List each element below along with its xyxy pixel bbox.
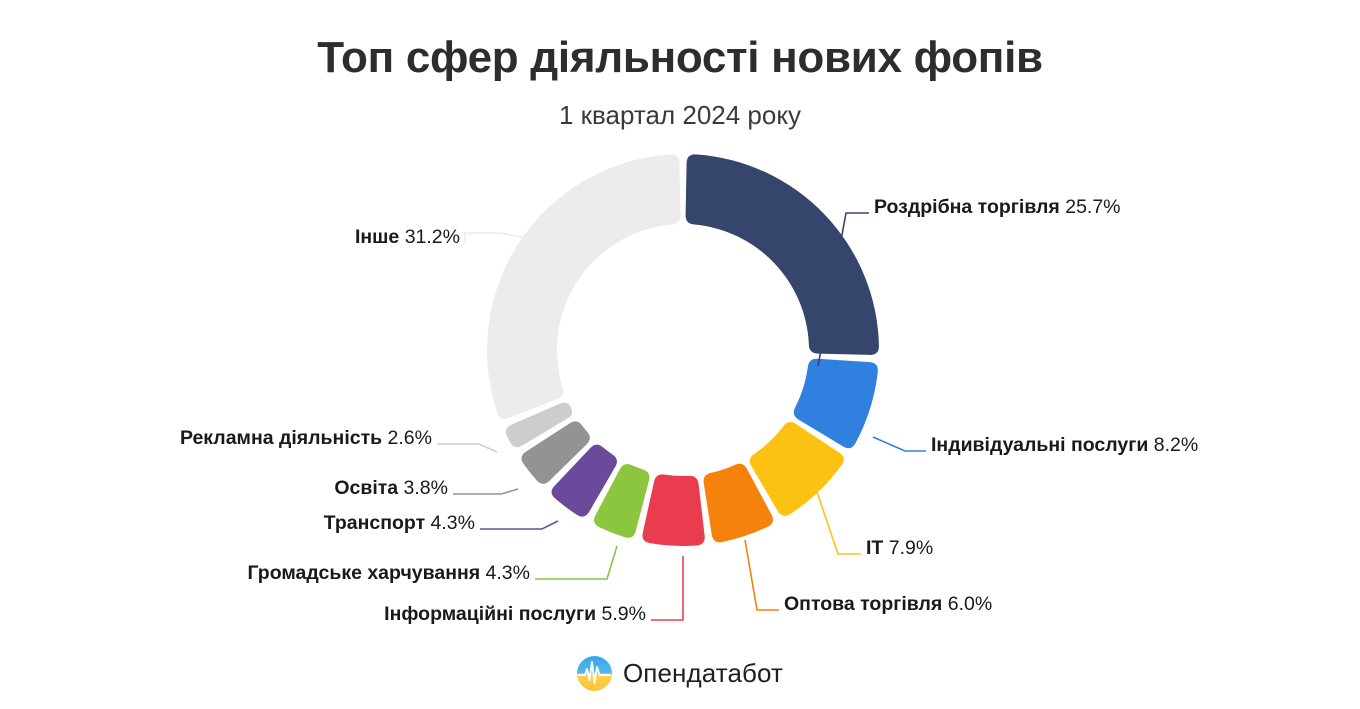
donut-slice	[642, 474, 704, 546]
slice-label-name: Освіта	[334, 477, 403, 499]
footer-branding: Опендатабот	[0, 656, 1360, 691]
slice-label-value: 8.2%	[1154, 434, 1198, 456]
slice-label: Інше 31.2%	[355, 226, 460, 248]
slice-label-value: 4.3%	[431, 512, 475, 534]
leader-line	[535, 546, 617, 579]
slice-label-value: 3.8%	[404, 477, 448, 499]
slice-label-value: 4.3%	[486, 562, 530, 584]
leader-line	[817, 492, 861, 554]
leader-line	[745, 540, 779, 610]
slice-label: Інформаційні послуги 5.9%	[384, 603, 646, 625]
slice-label: IT 7.9%	[866, 537, 933, 559]
slice-label-name: Роздрібна торгівля	[874, 196, 1065, 218]
slice-label-name: IT	[866, 537, 889, 559]
leader-line	[651, 556, 683, 620]
slice-label-value: 6.0%	[948, 593, 992, 615]
donut-slice	[487, 154, 680, 419]
slice-label-name: Транспорт	[324, 512, 431, 534]
slice-label-value: 31.2%	[405, 226, 460, 248]
slice-label: Освіта 3.8%	[334, 477, 448, 499]
leader-line	[480, 521, 558, 529]
leader-line	[437, 444, 497, 452]
chart-page: Топ сфер діяльності нових фопів 1 кварта…	[0, 0, 1360, 709]
slice-labels: Роздрібна торгівля 25.7%Індивідуальні по…	[180, 196, 1198, 625]
slice-label: Оптова торгівля 6.0%	[784, 593, 992, 615]
slice-label-name: Інформаційні послуги	[384, 603, 601, 625]
slice-label-name: Оптова торгівля	[784, 593, 948, 615]
leader-line	[453, 489, 518, 494]
slice-label-name: Громадське харчування	[247, 562, 485, 584]
donut-slice	[686, 154, 879, 355]
leader-line	[873, 437, 926, 451]
slice-label: Роздрібна торгівля 25.7%	[874, 196, 1121, 218]
slice-label-value: 7.9%	[889, 537, 933, 559]
opendatabot-pulse-logo-icon	[577, 656, 612, 691]
slice-label-name: Індивідуальні послуги	[931, 434, 1154, 456]
slice-label: Рекламна діяльність 2.6%	[180, 427, 432, 449]
slice-label-name: Рекламна діяльність	[180, 427, 388, 449]
slice-label: Громадське харчування 4.3%	[247, 562, 530, 584]
slice-label-value: 25.7%	[1065, 196, 1120, 218]
slice-label-value: 5.9%	[602, 603, 646, 625]
slice-label-value: 2.6%	[388, 427, 432, 449]
slice-label: Транспорт 4.3%	[324, 512, 475, 534]
brand-name: Опендатабот	[623, 658, 783, 689]
slice-label-name: Інше	[355, 226, 405, 248]
donut-chart: Роздрібна торгівля 25.7%Індивідуальні по…	[0, 0, 1360, 709]
slice-label: Індивідуальні послуги 8.2%	[931, 434, 1198, 456]
